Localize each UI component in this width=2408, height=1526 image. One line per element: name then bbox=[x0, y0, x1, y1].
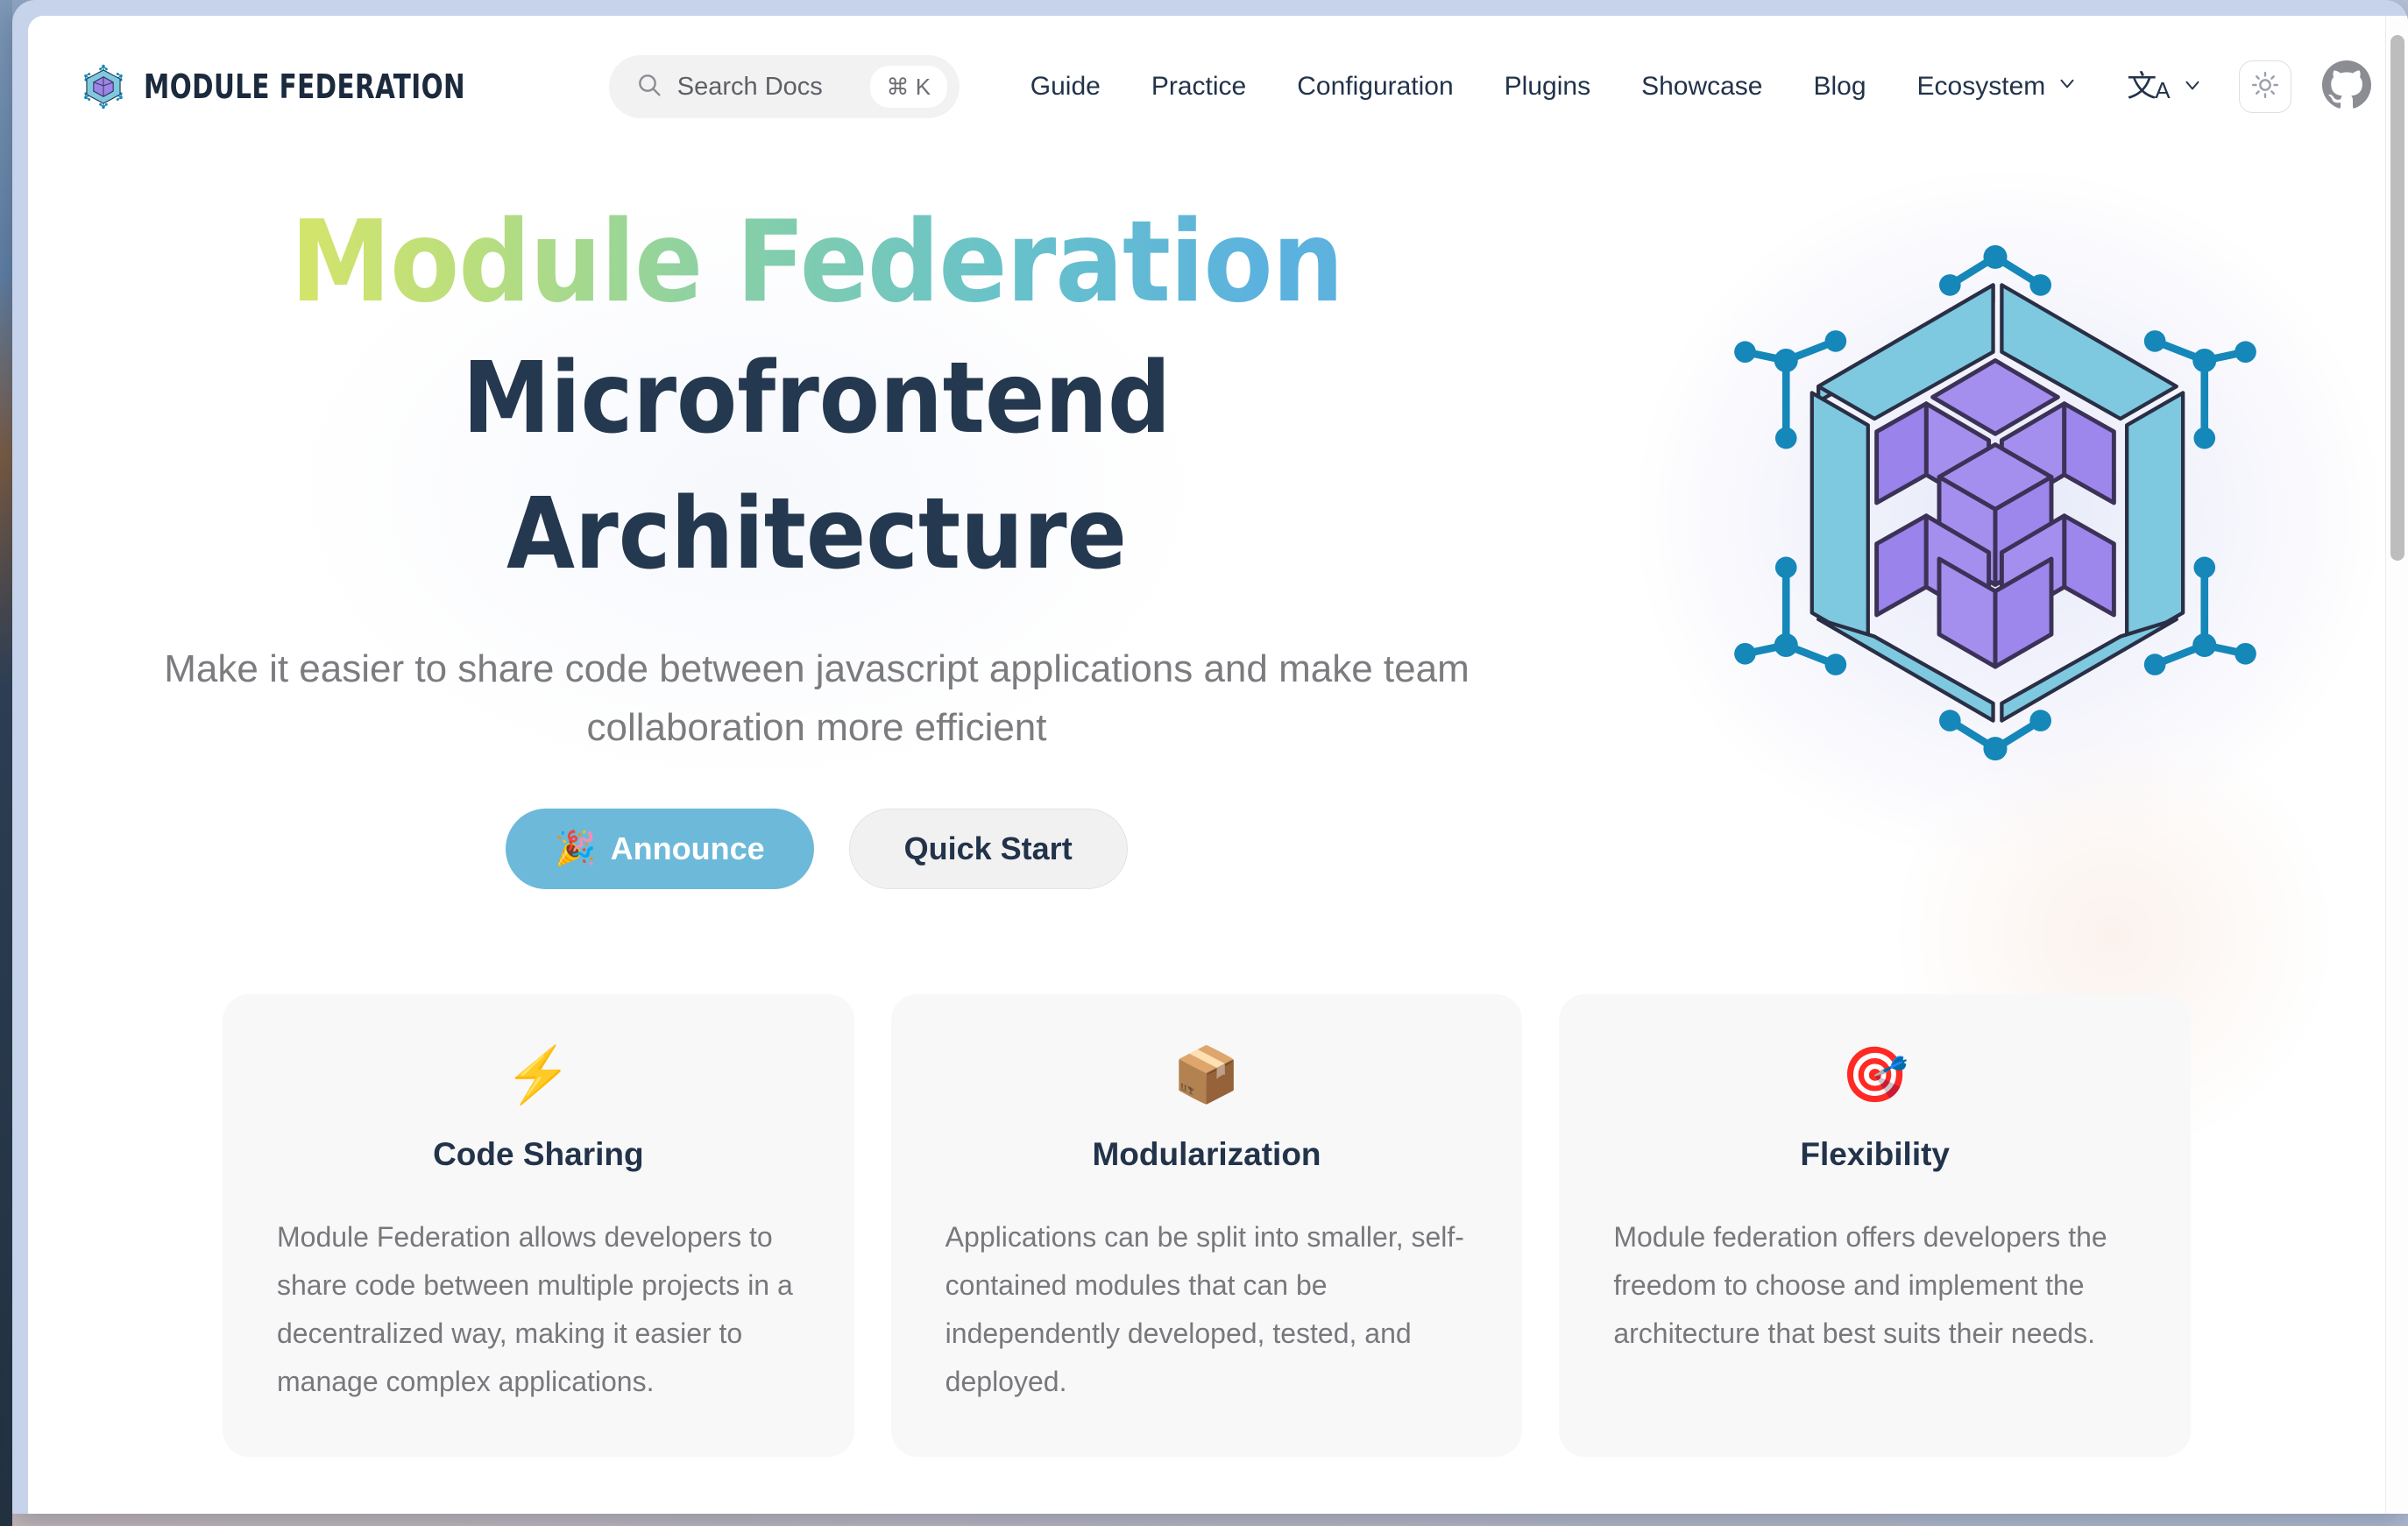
language-switcher-button[interactable]: 文A bbox=[2104, 72, 2226, 102]
feature-card-flexibility: 🎯 Flexibility Module federation offers d… bbox=[1559, 994, 2191, 1457]
nav-item-label: Practice bbox=[1151, 72, 1246, 102]
hero-title-line-3: Architecture bbox=[379, 470, 1255, 600]
search-icon bbox=[635, 71, 663, 103]
nav-item-label: Plugins bbox=[1505, 72, 1590, 102]
search-placeholder-text: Search Docs bbox=[677, 73, 856, 102]
desktop-background-strip bbox=[0, 0, 12, 1526]
nav-item-ecosystem[interactable]: Ecosystem bbox=[1892, 72, 2105, 102]
page-content: MODULE FEDERATION Search Docs ⌘ K Guide bbox=[28, 16, 2385, 1514]
nav-item-label: Blog bbox=[1814, 72, 1866, 102]
theme-toggle-button[interactable] bbox=[2239, 60, 2291, 113]
browser-window-frame: MODULE FEDERATION Search Docs ⌘ K Guide bbox=[12, 0, 2408, 1514]
page-viewport: MODULE FEDERATION Search Docs ⌘ K Guide bbox=[28, 16, 2408, 1514]
hero-subtitle: Make it easier to share code between jav… bbox=[72, 640, 1562, 758]
chevron-down-icon bbox=[2181, 74, 2204, 101]
lightning-bolt-icon: ⚡ bbox=[277, 1049, 800, 1103]
party-popper-icon: 🎉 bbox=[555, 830, 596, 868]
nav-item-blog[interactable]: Blog bbox=[1788, 72, 1892, 102]
github-icon bbox=[2322, 60, 2371, 114]
nav-item-label: Ecosystem bbox=[1917, 72, 2046, 102]
feature-card-title: Code Sharing bbox=[277, 1136, 800, 1173]
announce-button-label: Announce bbox=[611, 830, 765, 867]
quick-start-button-label: Quick Start bbox=[904, 830, 1073, 867]
navbar-actions: 文A bbox=[2104, 60, 2373, 114]
brand-home-link[interactable]: MODULE FEDERATION bbox=[79, 62, 518, 111]
feature-card-code-sharing: ⚡ Code Sharing Module Federation allows … bbox=[223, 994, 854, 1457]
nav-item-configuration[interactable]: Configuration bbox=[1271, 72, 1478, 102]
search-input[interactable]: Search Docs ⌘ K bbox=[609, 55, 960, 118]
announce-button[interactable]: 🎉 Announce bbox=[506, 809, 813, 889]
feature-card-modularization: 📦 Modularization Applications can be spl… bbox=[891, 994, 1523, 1457]
search-shortcut-badge: ⌘ K bbox=[870, 66, 947, 108]
feature-card-body: Applications can be split into smaller, … bbox=[945, 1213, 1469, 1406]
scrollbar-thumb[interactable] bbox=[2390, 35, 2404, 561]
nav-item-label: Guide bbox=[1030, 72, 1101, 102]
target-dart-icon: 🎯 bbox=[1613, 1049, 2136, 1103]
browser-window-content: MODULE FEDERATION Search Docs ⌘ K Guide bbox=[28, 16, 2408, 1514]
nav-item-guide[interactable]: Guide bbox=[1005, 72, 1126, 102]
hero-copy: Module Federation Microfrontend Architec… bbox=[28, 196, 1605, 889]
sun-light-theme-icon bbox=[2250, 70, 2280, 104]
hero-action-buttons: 🎉 Announce Quick Start bbox=[28, 809, 1605, 889]
isometric-module-federation-cube-illustration-icon bbox=[1715, 223, 2276, 783]
hero-title-line-2: Microfrontend bbox=[379, 334, 1255, 464]
github-link-button[interactable] bbox=[2319, 60, 2374, 114]
primary-navigation: Guide Practice Configuration Plugins Sho… bbox=[1005, 72, 2104, 102]
translate-language-icon: 文A bbox=[2127, 72, 2170, 102]
chevron-down-icon bbox=[2056, 72, 2079, 102]
module-federation-cube-logo-icon bbox=[79, 62, 128, 111]
feature-card-title: Flexibility bbox=[1613, 1136, 2136, 1173]
feature-cards: ⚡ Code Sharing Module Federation allows … bbox=[28, 994, 2385, 1457]
brand-name: MODULE FEDERATION bbox=[144, 67, 465, 106]
nav-item-practice[interactable]: Practice bbox=[1126, 72, 1271, 102]
nav-item-showcase[interactable]: Showcase bbox=[1616, 72, 1788, 102]
hero-gradient-title: Module Federation bbox=[159, 196, 1474, 329]
hero-illustration-wrap bbox=[1605, 196, 2385, 783]
vertical-scrollbar[interactable] bbox=[2385, 16, 2408, 1514]
package-box-icon: 📦 bbox=[945, 1049, 1469, 1103]
hero-section: Module Federation Microfrontend Architec… bbox=[28, 158, 2385, 889]
site-navbar: MODULE FEDERATION Search Docs ⌘ K Guide bbox=[28, 16, 2385, 158]
feature-card-title: Modularization bbox=[945, 1136, 1469, 1173]
nav-item-label: Configuration bbox=[1297, 72, 1453, 102]
nav-item-plugins[interactable]: Plugins bbox=[1479, 72, 1616, 102]
feature-card-body: Module Federation allows developers to s… bbox=[277, 1213, 800, 1406]
feature-card-body: Module federation offers developers the … bbox=[1613, 1213, 2136, 1358]
nav-item-label: Showcase bbox=[1641, 72, 1762, 102]
quick-start-button[interactable]: Quick Start bbox=[849, 809, 1128, 889]
